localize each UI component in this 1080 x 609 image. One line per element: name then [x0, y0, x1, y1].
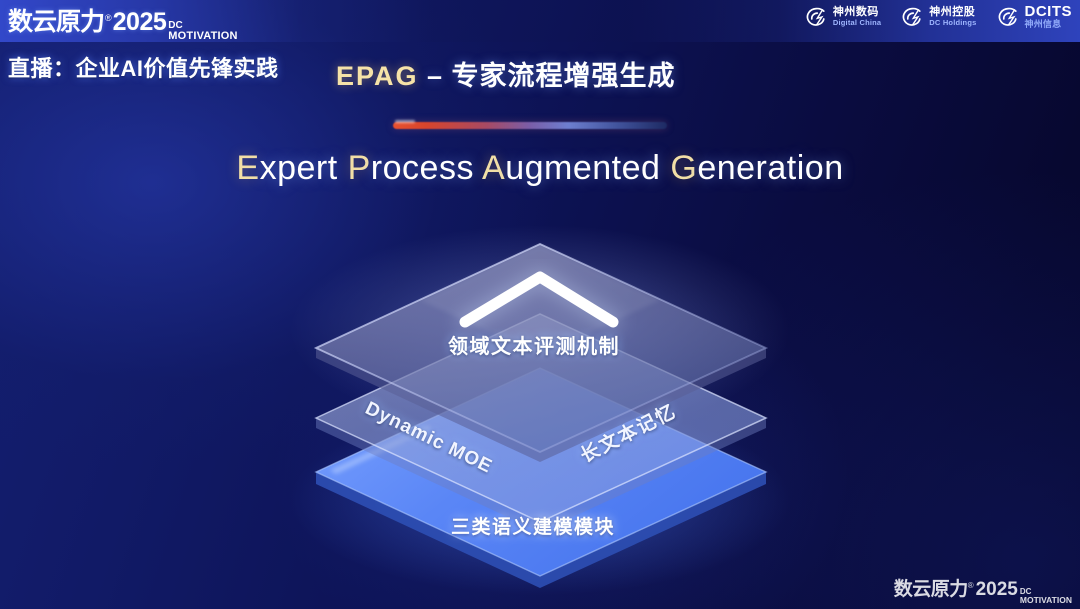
top-layer-sheen: [420, 244, 660, 356]
header-bar: 数云原力 ® 2025 DC MOTIVATION 神州数码 Di: [0, 0, 1080, 42]
logo-dc-holdings-en: DC Holdings: [929, 19, 976, 27]
bottom-layer-side: [316, 472, 766, 588]
top-layer-label: 领域文本评测机制: [448, 330, 620, 359]
swirl-icon: [803, 4, 829, 30]
english-headline: Expert Process Augmented Generation: [0, 149, 1080, 188]
brand-dc-motivation: DC MOTIVATION: [168, 21, 237, 42]
brand-name-cn: 数云原力: [8, 2, 104, 38]
diagram-layer-middle[interactable]: [316, 314, 766, 532]
slide-canvas: 数云原力 ® 2025 DC MOTIVATION 神州数码 Di: [0, 0, 1080, 609]
bottom-layer-face: [316, 368, 766, 576]
swirl-icon: [995, 4, 1021, 30]
top-layer-edge: [316, 244, 766, 452]
bottom-layer-glow: [290, 405, 790, 595]
logo-dcits-en: DCITS: [1025, 4, 1073, 20]
diagram-layer-bottom[interactable]: [316, 368, 766, 588]
diagram-layer-top[interactable]: [316, 244, 766, 462]
middle-layer-label-left: Dynamic MOE: [361, 398, 495, 479]
footer-watermark: 数云原力 ® 2025 DC MOTIVATION: [894, 574, 1072, 606]
bottom-layer-label: 三类语义建模模块: [451, 512, 615, 539]
live-stream-banner: 直播：企业AI价值先锋实践: [8, 51, 279, 83]
middle-layer-face: [316, 314, 766, 522]
headline-rest-process: rocess: [371, 149, 482, 187]
logo-dcits-cn: 神州信息: [1025, 20, 1073, 29]
middle-layer-side: [316, 418, 766, 532]
top-layer-face: [316, 244, 766, 452]
gradient-divider: [393, 122, 667, 129]
brand-registered-mark: ®: [105, 13, 112, 23]
logo-dcits: DCITS 神州信息: [995, 4, 1073, 30]
brand-motivation-label: MOTIVATION: [168, 31, 237, 42]
slide-title-chinese: 专家流程增强生成: [452, 61, 676, 91]
headline-cap-g: G: [670, 149, 697, 187]
watermark-name-cn: 数云原力: [894, 574, 968, 601]
bottom-layer-edge: [316, 368, 766, 576]
chevron-up-icon: [465, 277, 613, 322]
brand-year: 2025: [113, 8, 167, 37]
swirl-icon: [899, 4, 925, 30]
watermark-year: 2025: [976, 579, 1018, 601]
logo-dcits-text: DCITS 神州信息: [1025, 4, 1073, 29]
headline-cap-a: A: [482, 149, 505, 187]
partner-logos: 神州数码 Digital China 神州控股 DC Holdings: [803, 4, 1072, 30]
watermark-registered-mark: ®: [968, 581, 974, 590]
middle-layer-edge: [316, 314, 766, 522]
logo-digital-china: 神州数码 Digital China: [803, 4, 881, 30]
brand-logo: 数云原力 ® 2025 DC MOTIVATION: [8, 2, 238, 44]
middle-layer-label-right: 长文本记忆: [575, 396, 681, 468]
headline-rest-generation: eneration: [697, 149, 843, 187]
top-layer-glow: [290, 225, 790, 435]
logo-digital-china-en: Digital China: [833, 19, 881, 27]
top-layer-side: [316, 348, 766, 462]
headline-cap-e: E: [236, 149, 259, 187]
headline-rest-expert: xpert: [260, 149, 348, 187]
slide-title-acronym: EPAG: [336, 61, 419, 91]
logo-dc-holdings-text: 神州控股 DC Holdings: [929, 7, 976, 26]
logo-dc-holdings: 神州控股 DC Holdings: [899, 4, 976, 30]
slide-title-separator: –: [419, 61, 452, 91]
headline-rest-augmented: ugmented: [505, 149, 670, 187]
headline-cap-p: P: [348, 149, 371, 187]
logo-digital-china-text: 神州数码 Digital China: [833, 7, 881, 26]
watermark-motivation-label: MOTIVATION: [1020, 596, 1072, 605]
slide-title: EPAG – 专家流程增强生成: [336, 54, 676, 93]
bottom-layer-highlight: [330, 424, 430, 474]
watermark-dc-motivation: DC MOTIVATION: [1020, 588, 1072, 605]
